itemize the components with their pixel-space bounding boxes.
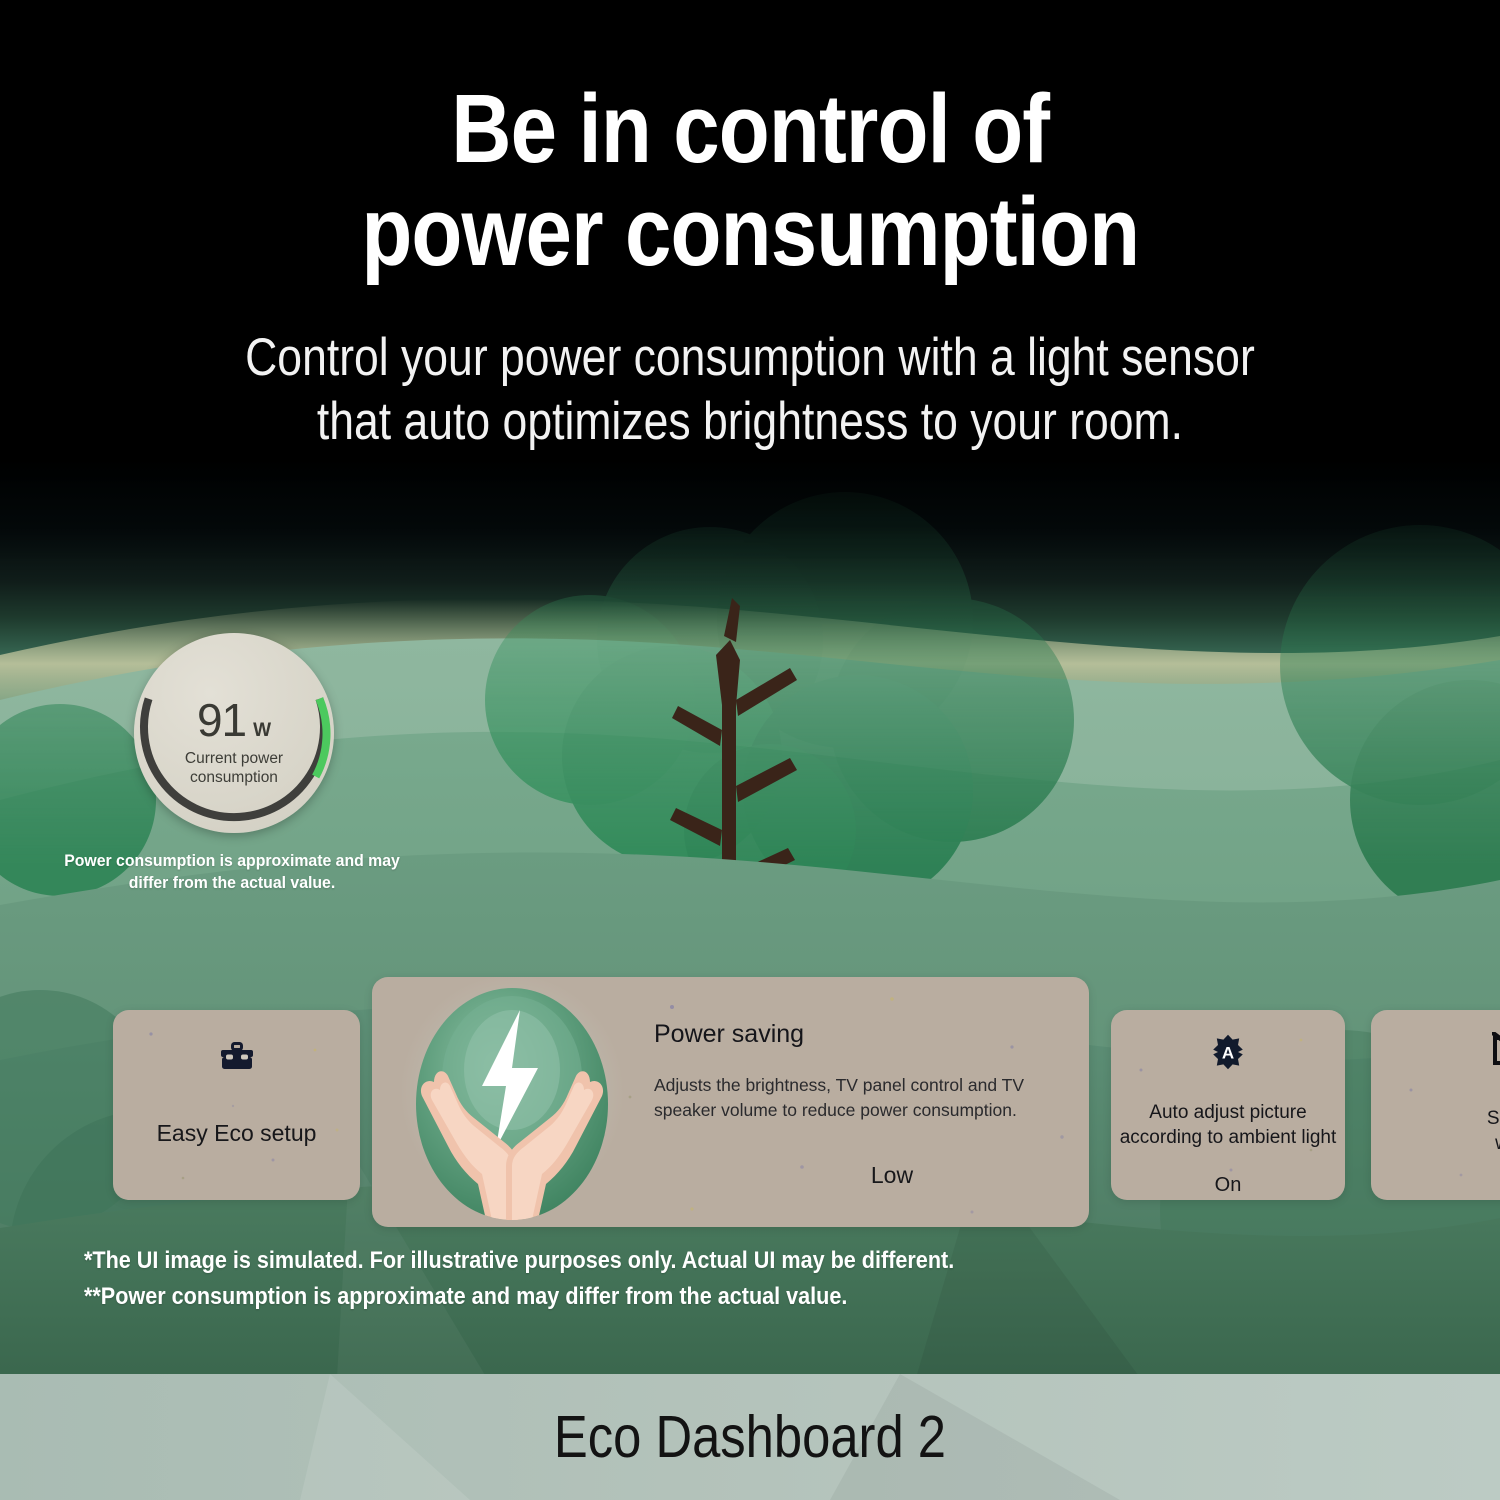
gauge-unit: W (253, 720, 271, 742)
card-power-saving-state[interactable]: Low (842, 1162, 942, 1189)
card-power-saving-description: Adjusts the brightness, TV panel control… (654, 1073, 1054, 1123)
card-power-saving[interactable]: Power saving Adjusts the brightness, TV … (372, 977, 1089, 1227)
promo-banner: Be in control of power consumption Contr… (0, 0, 1500, 1500)
card-easy-eco-setup[interactable]: Easy Eco setup (113, 1010, 360, 1200)
footer-title: Eco Dashboard 2 (554, 1403, 946, 1471)
card-easy-eco-setup-label: Easy Eco setup (157, 1120, 317, 1147)
card-auto-adjust-picture-label: Auto adjust picture according to ambient… (1120, 1101, 1337, 1150)
gauge-note: Power consumption is approximate and may… (55, 850, 408, 895)
disclaimer-text: *The UI image is simulated. For illustra… (84, 1243, 1074, 1315)
footer: Eco Dashboard 2 (0, 1374, 1500, 1500)
card-texture (1371, 1010, 1500, 1200)
toolbox-icon (220, 1042, 254, 1077)
gauge-readout: 91 W Current power consumption (134, 633, 334, 833)
auto-brightness-icon: A (1210, 1034, 1246, 1075)
gauge-value: 91 (197, 693, 246, 747)
card-auto-adjust-picture-state[interactable]: On (1215, 1174, 1242, 1197)
card-shut-off-watch-label: Shut-off watch (1487, 1107, 1500, 1156)
card-texture (113, 1010, 360, 1200)
power-consumption-gauge: 91 W Current power consumption (134, 633, 334, 833)
gauge-label: Current power consumption (185, 750, 283, 788)
card-auto-adjust-picture[interactable]: A Auto adjust picture according to ambie… (1111, 1010, 1345, 1200)
svg-text:A: A (1222, 1044, 1234, 1063)
card-shut-off-watch[interactable]: Shut-off watch (1371, 1010, 1500, 1200)
card-power-saving-title: Power saving (654, 1020, 804, 1049)
tv-off-icon (1492, 1032, 1500, 1079)
gauge-value-row: 91 W (197, 693, 271, 747)
hands-holding-energy-orb-illustration (378, 977, 646, 1227)
